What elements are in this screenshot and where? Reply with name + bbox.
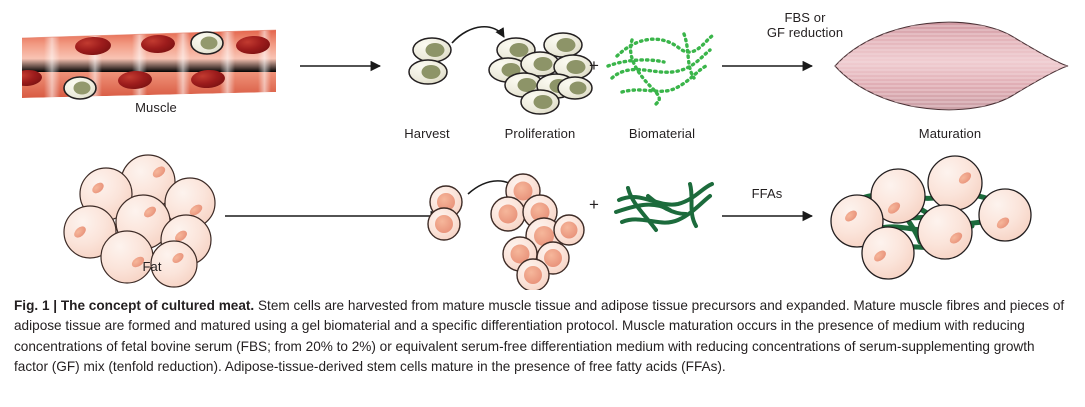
adipose-cell-cluster bbox=[491, 174, 584, 290]
satellite-cell bbox=[64, 77, 96, 99]
muscle-tissue-illustration bbox=[11, 26, 276, 104]
label-fbs-gf-reduction: FBS or GF reduction bbox=[740, 10, 870, 40]
label-fat: Fat bbox=[142, 259, 161, 274]
mature-adipose-tissue bbox=[831, 156, 1031, 279]
label-maturation: Maturation bbox=[919, 126, 981, 141]
adipose-precursor-cells bbox=[428, 186, 462, 240]
fbs-line-2: GF reduction bbox=[767, 25, 843, 40]
figure-caption: Fig. 1 | The concept of cultured meat. S… bbox=[14, 296, 1070, 378]
label-ffas: FFAs bbox=[752, 186, 783, 201]
caption-lead: Fig. 1 | The concept of cultured meat. bbox=[14, 298, 254, 313]
harvested-stem-cells bbox=[409, 38, 451, 84]
fbs-line-1: FBS or bbox=[784, 10, 825, 25]
label-harvest: Harvest bbox=[404, 126, 450, 141]
fat-tissue-illustration bbox=[64, 155, 215, 287]
label-biomaterial: Biomaterial bbox=[629, 126, 695, 141]
satellite-cell bbox=[191, 32, 223, 54]
figure-illustration bbox=[0, 0, 1085, 290]
biomaterial-gel-muscle bbox=[608, 34, 712, 104]
arrow-harvest-to-proliferation bbox=[452, 27, 504, 43]
plus-symbol-muscle: + bbox=[589, 56, 599, 76]
proliferated-cell-cluster bbox=[489, 33, 592, 114]
label-muscle: Muscle bbox=[135, 100, 177, 115]
biomaterial-gel-fat bbox=[616, 184, 712, 230]
label-proliferation: Proliferation bbox=[505, 126, 576, 141]
plus-symbol-fat: + bbox=[589, 195, 599, 215]
